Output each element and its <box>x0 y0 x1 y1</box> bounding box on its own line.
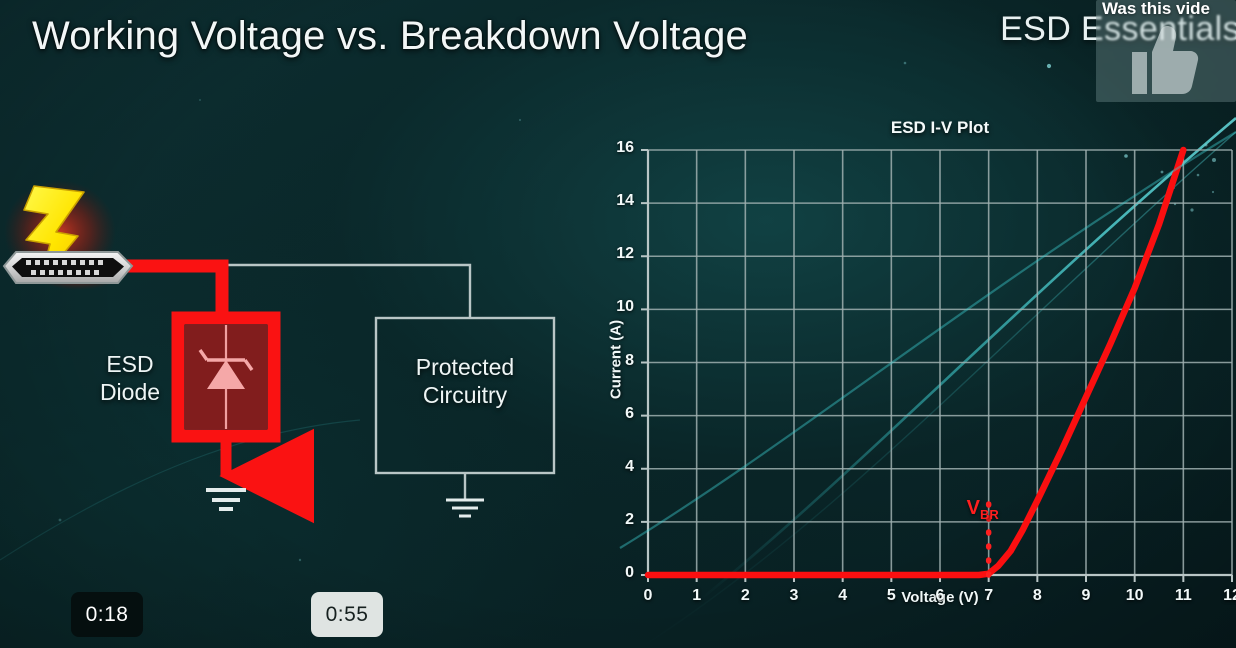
x-tick-label: 1 <box>684 587 710 605</box>
y-tick-label: 6 <box>600 405 634 423</box>
vbr-label-subscript: BR <box>980 507 999 522</box>
iv-plot: ESD I-V Plot Current (A) Voltage (V) 024… <box>580 108 1236 648</box>
x-tick-label: 7 <box>976 587 1002 605</box>
x-tick-label: 10 <box>1122 587 1148 605</box>
x-tick-label: 0 <box>635 587 661 605</box>
y-tick-label: 12 <box>600 245 634 263</box>
ground-icon-diode <box>206 490 246 509</box>
y-tick-label: 2 <box>600 511 634 529</box>
esd-diode-label: ESD Diode <box>70 350 190 406</box>
circuit-diagram: ESD Diode Protected Circuitry <box>0 170 600 550</box>
y-tick-label: 16 <box>600 139 634 157</box>
x-tick-label: 11 <box>1170 587 1196 605</box>
surge-path-wire <box>130 266 222 318</box>
x-tick-label: 12 <box>1219 587 1236 605</box>
y-tick-label: 4 <box>600 458 634 476</box>
esd-diode-component <box>178 318 274 436</box>
protected-circuitry-label: Protected Circuitry <box>376 353 554 409</box>
current-time-badge[interactable]: 0:18 <box>71 592 143 637</box>
y-tick-label: 10 <box>600 298 634 316</box>
vbr-label-main: V <box>967 497 980 519</box>
y-tick-label: 0 <box>600 564 634 582</box>
x-tick-label: 5 <box>878 587 904 605</box>
esd-diode-label-line1: ESD <box>70 350 190 378</box>
page-title: Working Voltage vs. Breakdown Voltage <box>32 14 748 59</box>
y-tick-label: 8 <box>600 352 634 370</box>
protected-circuitry-line2: Circuitry <box>376 381 554 409</box>
breakdown-voltage-label: VBR <box>967 497 999 522</box>
decorative-teal-streak <box>620 132 1236 548</box>
x-tick-label: 3 <box>781 587 807 605</box>
x-tick-label: 4 <box>830 587 856 605</box>
plot-area <box>580 108 1236 648</box>
esd-diode-label-line2: Diode <box>70 378 190 406</box>
ground-icon-protected <box>446 500 484 516</box>
survey-prompt-text: Was this vide <box>1102 0 1210 19</box>
protected-circuitry-line1: Protected <box>376 353 554 381</box>
y-tick-label: 14 <box>600 192 634 210</box>
x-tick-label: 6 <box>927 587 953 605</box>
x-tick-label: 2 <box>732 587 758 605</box>
thumbs-up-icon[interactable] <box>1126 22 1204 96</box>
signal-wire <box>135 265 470 318</box>
hdmi-connector-icon <box>4 252 132 283</box>
x-tick-label: 8 <box>1024 587 1050 605</box>
x-tick-label: 9 <box>1073 587 1099 605</box>
total-time-badge[interactable]: 0:55 <box>311 592 383 637</box>
survey-overlay[interactable]: Was this vide <box>1096 0 1236 102</box>
